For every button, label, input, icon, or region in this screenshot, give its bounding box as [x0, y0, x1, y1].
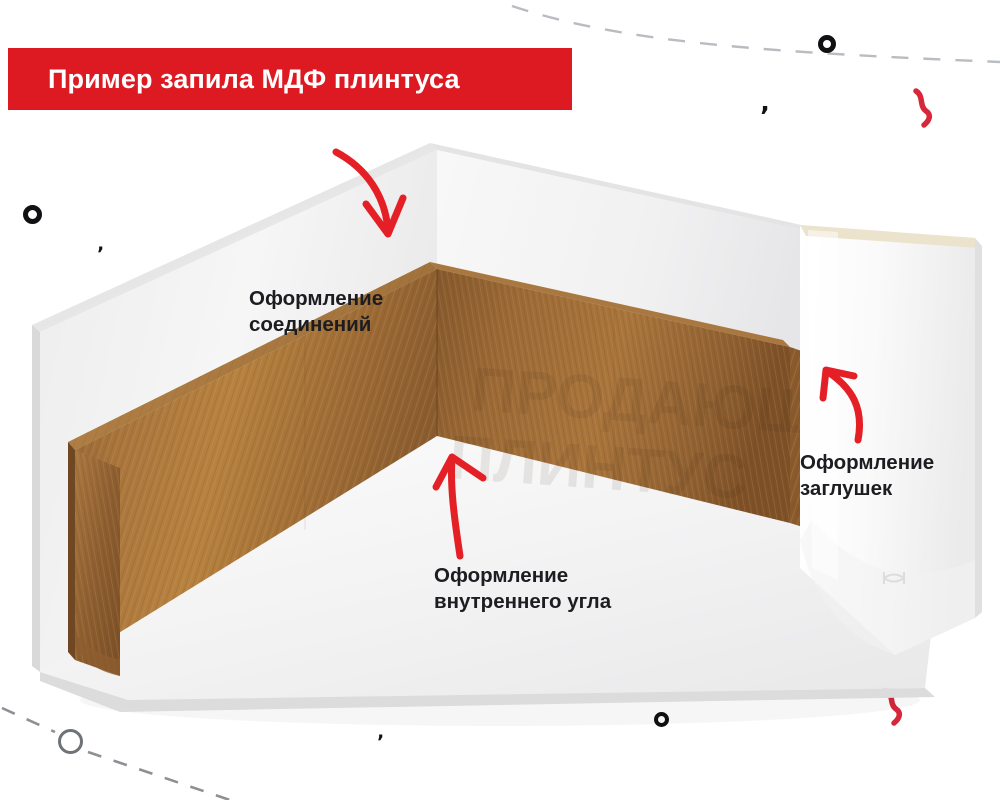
poster-canvas: ’ ’ ’	[0, 0, 1000, 800]
annotation-cap-line2: заглушек	[800, 476, 934, 502]
title-banner-text: Пример запила МДФ плинтуса	[48, 64, 460, 95]
end-cap-right-edge	[975, 238, 982, 618]
annotation-label-inner-corner: Оформление внутреннего угла	[434, 563, 611, 615]
title-banner: Пример запила МДФ плинтуса	[8, 48, 572, 110]
skirting-left-end-cut	[68, 442, 75, 660]
annotation-inner-line1: Оформление	[434, 563, 611, 589]
annotation-inner-line2: внутреннего угла	[434, 589, 611, 615]
skirting-corner-photo: ПРОДАЮЩИЙ ПЛИНТУС	[0, 0, 1000, 800]
end-cap-highlight	[808, 230, 838, 580]
annotation-joints-line1: Оформление	[249, 286, 383, 312]
wall-left-side-thickness	[32, 325, 40, 672]
annotation-joints-line2: соединений	[249, 312, 383, 338]
annotation-label-end-cap: Оформление заглушек	[800, 450, 934, 502]
annotation-cap-line1: Оформление	[800, 450, 934, 476]
annotation-label-joints: Оформление соединений	[249, 286, 383, 338]
